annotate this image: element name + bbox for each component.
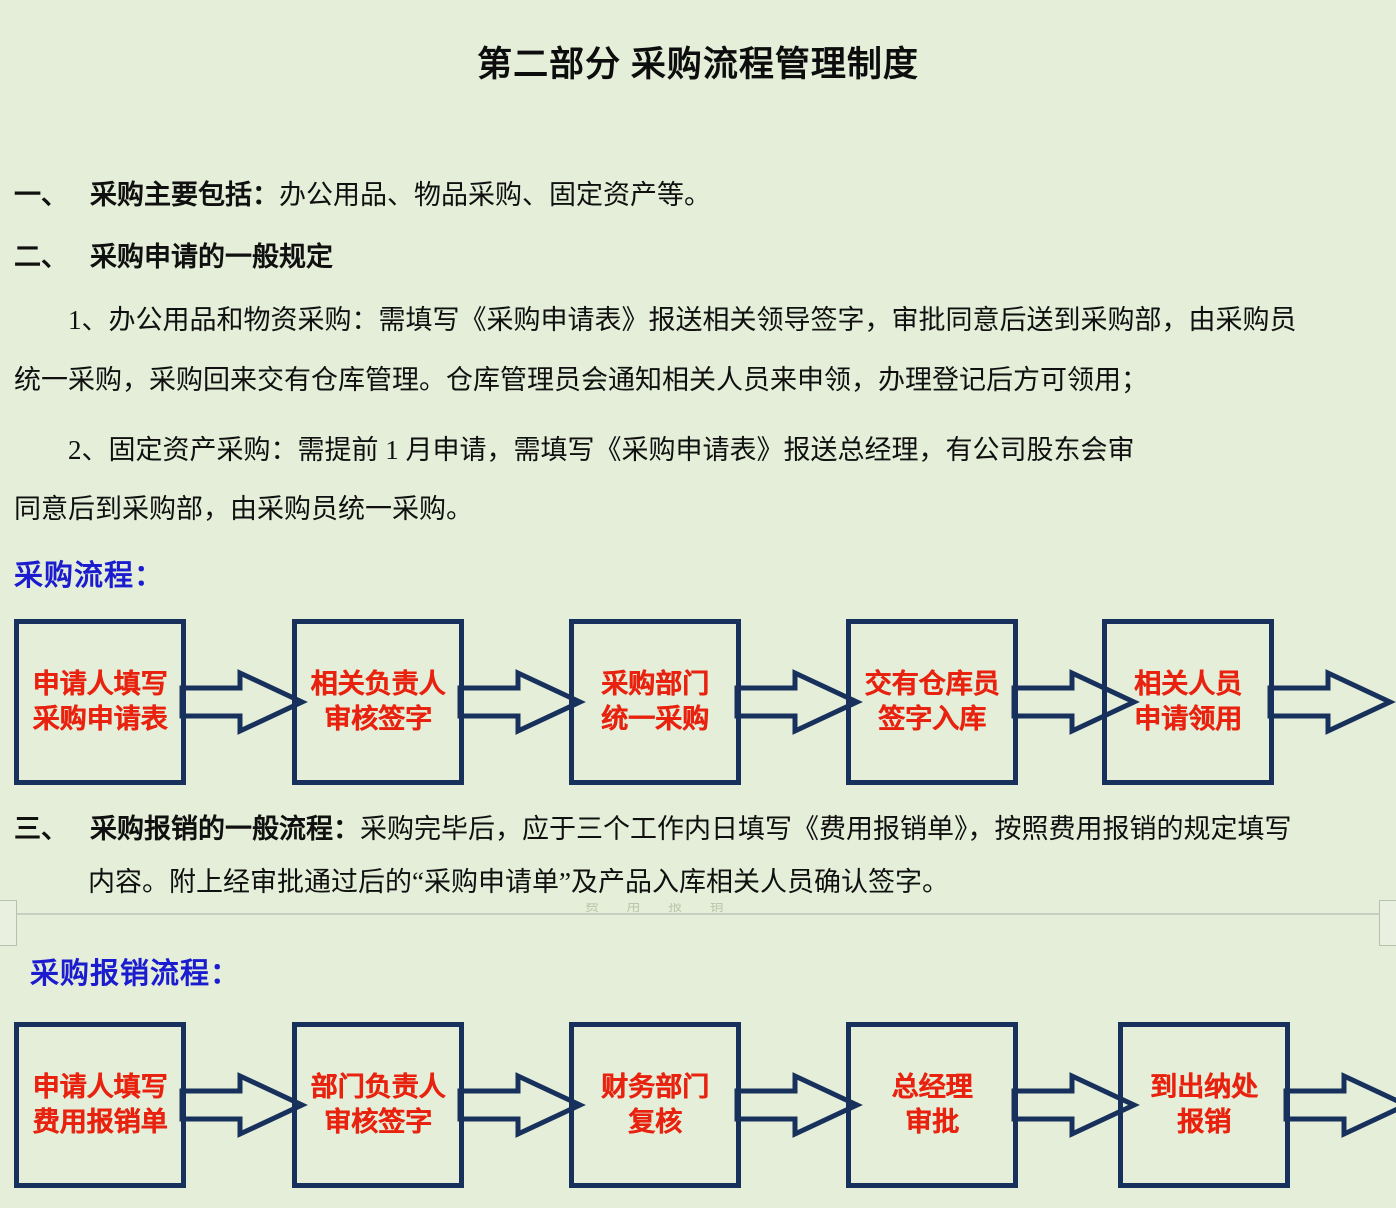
reimbursement-flow-heading: 采购报销流程：: [30, 950, 240, 992]
flow-node-purchase-1[interactable]: 申请人填写采购申请表: [14, 619, 186, 785]
page-break-line: [0, 913, 1396, 915]
flow-node-reimbursement-3[interactable]: 财务部门复核: [569, 1022, 741, 1188]
page-title: 第二部分 采购流程管理制度: [0, 36, 1396, 87]
flow-node-reimbursement-5[interactable]: 到出纳处报销: [1118, 1022, 1290, 1188]
flow-node-purchase-2[interactable]: 相关负责人审核签字: [292, 619, 464, 785]
section-two-item1-line2: 统一采购，采购回来交有仓库管理。仓库管理员会通知相关人员来申领，办理登记后方可领…: [14, 363, 1382, 398]
purchase-flowchart: 申请人填写采购申请表 相关负责人审核签字 采购部门统一采购 交有仓库员签字入库 …: [0, 619, 1396, 785]
flow-node-label: 到出纳处报销: [1150, 1070, 1258, 1139]
flow-node-label: 申请人填写费用报销单: [33, 1070, 168, 1139]
reimbursement-flowchart: 申请人填写费用报销单 部门负责人审核签字 财务部门复核 总经理审批 到出纳处报销: [0, 1022, 1396, 1188]
flow-arrow-reimbursement-3: [737, 1074, 859, 1136]
flow-arrow-reimbursement-2: [460, 1074, 582, 1136]
section-one-heading: 采购主要包括：: [90, 180, 279, 210]
flow-arrow-purchase-5: [1270, 671, 1392, 733]
flow-node-reimbursement-4[interactable]: 总经理审批: [846, 1022, 1018, 1188]
purchase-flow-heading: 采购流程：: [14, 552, 164, 594]
section-three-line1: 三、采购报销的一般流程：采购完毕后，应于三个工作内日填写《费用报销单》，按照费用…: [14, 812, 1382, 847]
section-two-line: 二、采购申请的一般规定: [14, 240, 1382, 275]
section-one-body: 办公用品、物品采购、固定资产等。: [279, 180, 711, 210]
page-corner-mark-right: [1379, 900, 1396, 946]
flow-node-purchase-5[interactable]: 相关人员申请领用: [1102, 619, 1274, 785]
flow-node-label: 财务部门复核: [601, 1070, 709, 1139]
flow-node-label: 采购部门统一采购: [601, 667, 709, 736]
section-two-item1-line1: 1、办公用品和物资采购：需填写《采购申请表》报送相关领导签字，审批同意后送到采购…: [14, 303, 1396, 338]
flow-arrow-reimbursement-5: [1286, 1074, 1396, 1136]
flow-node-label: 申请人填写采购申请表: [33, 667, 168, 736]
section-two-item2-line2: 同意后到采购部，由采购员统一采购。: [14, 492, 1382, 527]
section-two-number: 二、: [14, 240, 90, 275]
flow-node-purchase-3[interactable]: 采购部门统一采购: [569, 619, 741, 785]
section-two-heading: 采购申请的一般规定: [90, 242, 333, 272]
flow-node-reimbursement-2[interactable]: 部门负责人审核签字: [292, 1022, 464, 1188]
flow-node-label: 部门负责人审核签字: [311, 1070, 446, 1139]
section-three-heading: 采购报销的一般流程：: [90, 814, 360, 844]
flow-arrow-reimbursement-1: [182, 1074, 304, 1136]
document-page: 第二部分 采购流程管理制度 一、采购主要包括：办公用品、物品采购、固定资产等。 …: [0, 0, 1396, 1208]
section-one-number: 一、: [14, 178, 90, 213]
flow-arrow-purchase-1: [182, 671, 304, 733]
section-three-line2: 内容。附上经审批通过后的“采购申请单”及产品入库相关人员确认签字。: [14, 865, 1396, 900]
flow-node-label: 交有仓库员签字入库: [865, 667, 1000, 736]
section-two-item2-line1: 2、固定资产采购：需提前 1 月申请，需填写《采购申请表》报送总经理，有公司股东…: [14, 433, 1396, 468]
flow-node-reimbursement-1[interactable]: 申请人填写费用报销单: [14, 1022, 186, 1188]
flow-node-label: 相关负责人审核签字: [311, 667, 446, 736]
flow-node-label: 总经理审批: [892, 1070, 973, 1139]
section-three-body1: 采购完毕后，应于三个工作内日填写《费用报销单》，按照费用报销的规定填写: [360, 814, 1292, 844]
page-break-ghost-text: 费 用 报 销: [585, 903, 885, 912]
flow-arrow-purchase-3: [737, 671, 859, 733]
flow-node-purchase-4[interactable]: 交有仓库员签字入库: [846, 619, 1018, 785]
flow-node-label: 相关人员申请领用: [1134, 667, 1242, 736]
flow-arrow-purchase-2: [460, 671, 582, 733]
section-three-number: 三、: [14, 812, 90, 847]
page-corner-mark-left: [0, 900, 17, 946]
section-one-line: 一、采购主要包括：办公用品、物品采购、固定资产等。: [14, 178, 1382, 213]
